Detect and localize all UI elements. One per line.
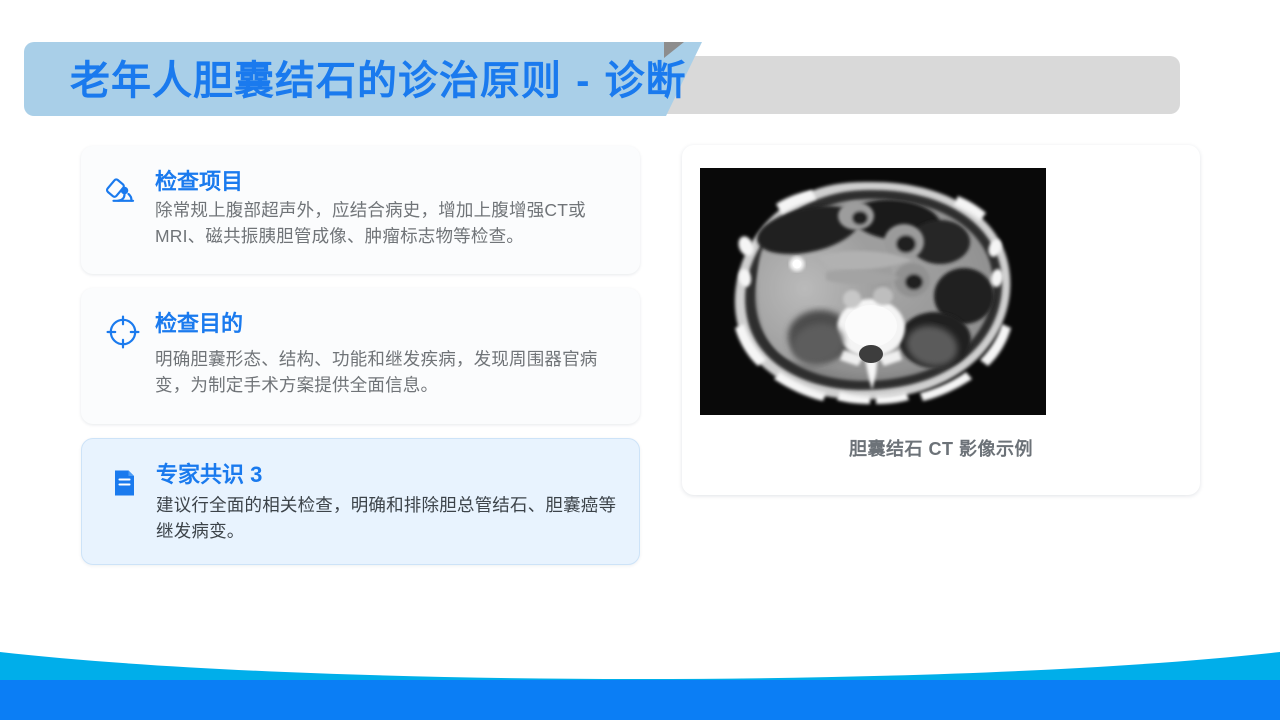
- document-icon: [102, 463, 146, 507]
- microscope-icon: [101, 170, 145, 214]
- page-title-separator: -: [562, 59, 605, 103]
- card-text: 除常规上腹部超声外，应结合病史，增加上腹增强CT或MRI、磁共振胰胆管成像、肿瘤…: [155, 197, 620, 249]
- card-title: 检查目的: [155, 310, 620, 338]
- card-body: 检查目的 明确胆囊形态、结构、功能和继发疾病，发现周围器官病变，为制定手术方案提…: [155, 310, 620, 398]
- page-title-main: 老年人胆囊结石的诊治原则: [70, 59, 562, 103]
- page-title-sub: 诊断: [605, 59, 687, 103]
- bottom-wave-decoration: [0, 610, 1280, 720]
- wave-dark: [0, 680, 1280, 720]
- card-text: 明确胆囊形态、结构、功能和继发疾病，发现周围器官病变，为制定手术方案提供全面信息…: [155, 346, 620, 398]
- crosshair-icon: [101, 312, 145, 356]
- content-left-column: 检查项目 除常规上腹部超声外，应结合病史，增加上腹增强CT或MRI、磁共振胰胆管…: [81, 146, 640, 579]
- card-title: 专家共识 3: [156, 461, 619, 489]
- card-exam-items: 检查项目 除常规上腹部超声外，应结合病史，增加上腹增强CT或MRI、磁共振胰胆管…: [81, 146, 640, 274]
- slide-root: 老年人胆囊结石的诊治原则 - 诊断 检查项目 除常规上腹部超声外，应结合病史，增…: [0, 0, 1280, 720]
- card-exam-purpose: 检查目的 明确胆囊形态、结构、功能和继发疾病，发现周围器官病变，为制定手术方案提…: [81, 288, 640, 424]
- card-body: 专家共识 3 建议行全面的相关检查，明确和排除胆总管结石、胆囊癌等继发病变。: [156, 461, 619, 544]
- card-title: 检查项目: [155, 168, 620, 196]
- ct-image-caption: 胆囊结石 CT 影像示例: [682, 435, 1200, 461]
- ct-image-panel: 胆囊结石 CT 影像示例: [682, 145, 1200, 495]
- slide-header: 老年人胆囊结石的诊治原则 - 诊断: [0, 0, 1280, 135]
- page-title: 老年人胆囊结石的诊治原则 - 诊断: [70, 52, 1170, 110]
- card-expert-consensus: 专家共识 3 建议行全面的相关检查，明确和排除胆总管结石、胆囊癌等继发病变。: [81, 438, 640, 565]
- card-body: 检查项目 除常规上腹部超声外，应结合病史，增加上腹增强CT或MRI、磁共振胰胆管…: [155, 168, 620, 249]
- ct-scan-image: [700, 168, 1046, 415]
- card-text: 建议行全面的相关检查，明确和排除胆总管结石、胆囊癌等继发病变。: [156, 492, 619, 544]
